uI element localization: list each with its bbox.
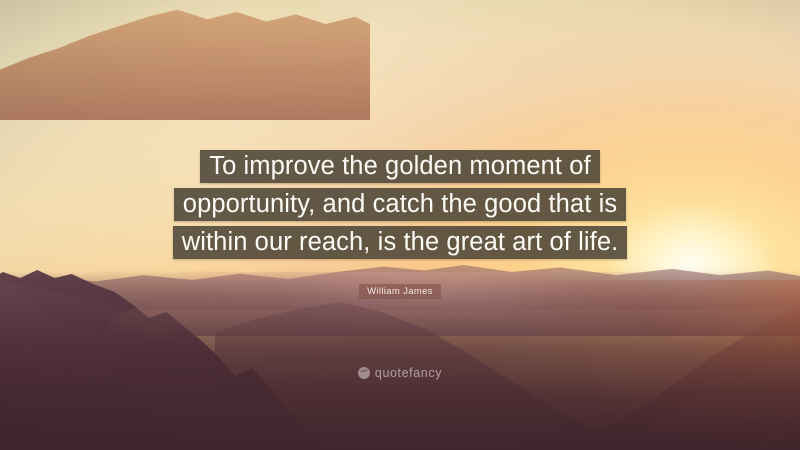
- quote-text-block: To improve the golden moment of opportun…: [0, 150, 800, 259]
- watermark-brand-text: quotefancy: [375, 366, 442, 380]
- quote-line-3: within our reach, is the great art of li…: [173, 226, 628, 259]
- quote-attribution: William James: [0, 281, 800, 299]
- foreground-warm-glow: [460, 280, 800, 450]
- quote-wallpaper-image: To improve the golden moment of opportun…: [0, 0, 800, 450]
- quote-line-1: To improve the golden moment of: [200, 150, 600, 183]
- quote-mark-badge-icon: “”: [358, 367, 370, 379]
- quote-mark-glyph: “”: [361, 369, 367, 376]
- quote-line-2: opportunity, and catch the good that is: [174, 188, 626, 221]
- quotefancy-watermark: “” quotefancy: [0, 366, 800, 380]
- author-name: William James: [359, 284, 441, 299]
